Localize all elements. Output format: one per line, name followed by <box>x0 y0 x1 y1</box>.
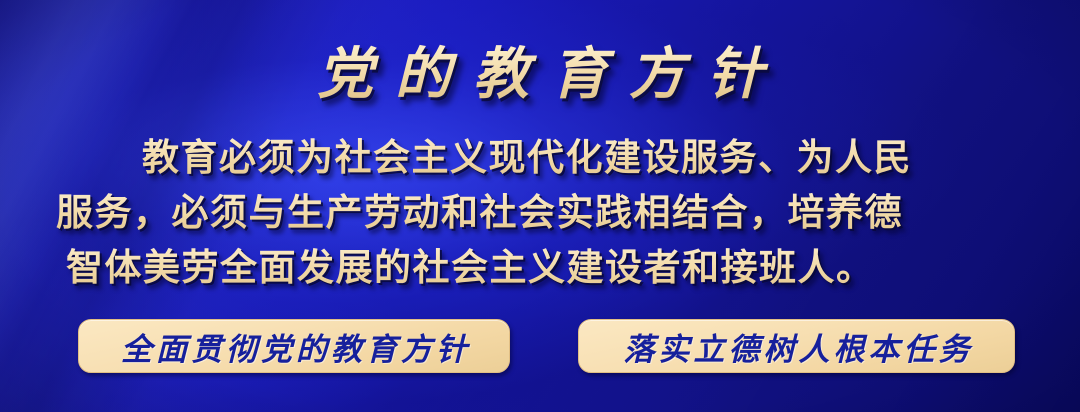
banner-content: 党的教育方针 教育必须为社会主义现代化建设服务、为人民 服务，必须与生产劳动和社… <box>0 0 1080 412</box>
badge-implement-party-education-policy[interactable]: 全面贯彻党的教育方针 <box>78 319 510 373</box>
education-policy-banner: 党的教育方针 教育必须为社会主义现代化建设服务、为人民 服务，必须与生产劳动和社… <box>0 0 1080 412</box>
badge-moral-education-fundamental-task[interactable]: 落实立德树人根本任务 <box>578 319 1015 373</box>
banner-title: 党的教育方针 <box>0 40 1080 110</box>
body-line-1: 教育必须为社会主义现代化建设服务、为人民 <box>56 131 1028 186</box>
body-line-3: 智体美劳全面发展的社会主义建设者和接班人。 <box>56 241 1028 296</box>
badge-left-label: 全面贯彻党的教育方针 <box>117 324 471 369</box>
body-line-2: 服务，必须与生产劳动和社会实践相结合，培养德 <box>56 186 1028 241</box>
badge-right-label: 落实立德树人根本任务 <box>620 324 974 369</box>
banner-badges: 全面贯彻党的教育方针 落实立德树人根本任务 <box>0 319 1080 377</box>
banner-body-text: 教育必须为社会主义现代化建设服务、为人民 服务，必须与生产劳动和社会实践相结合，… <box>56 131 1028 296</box>
